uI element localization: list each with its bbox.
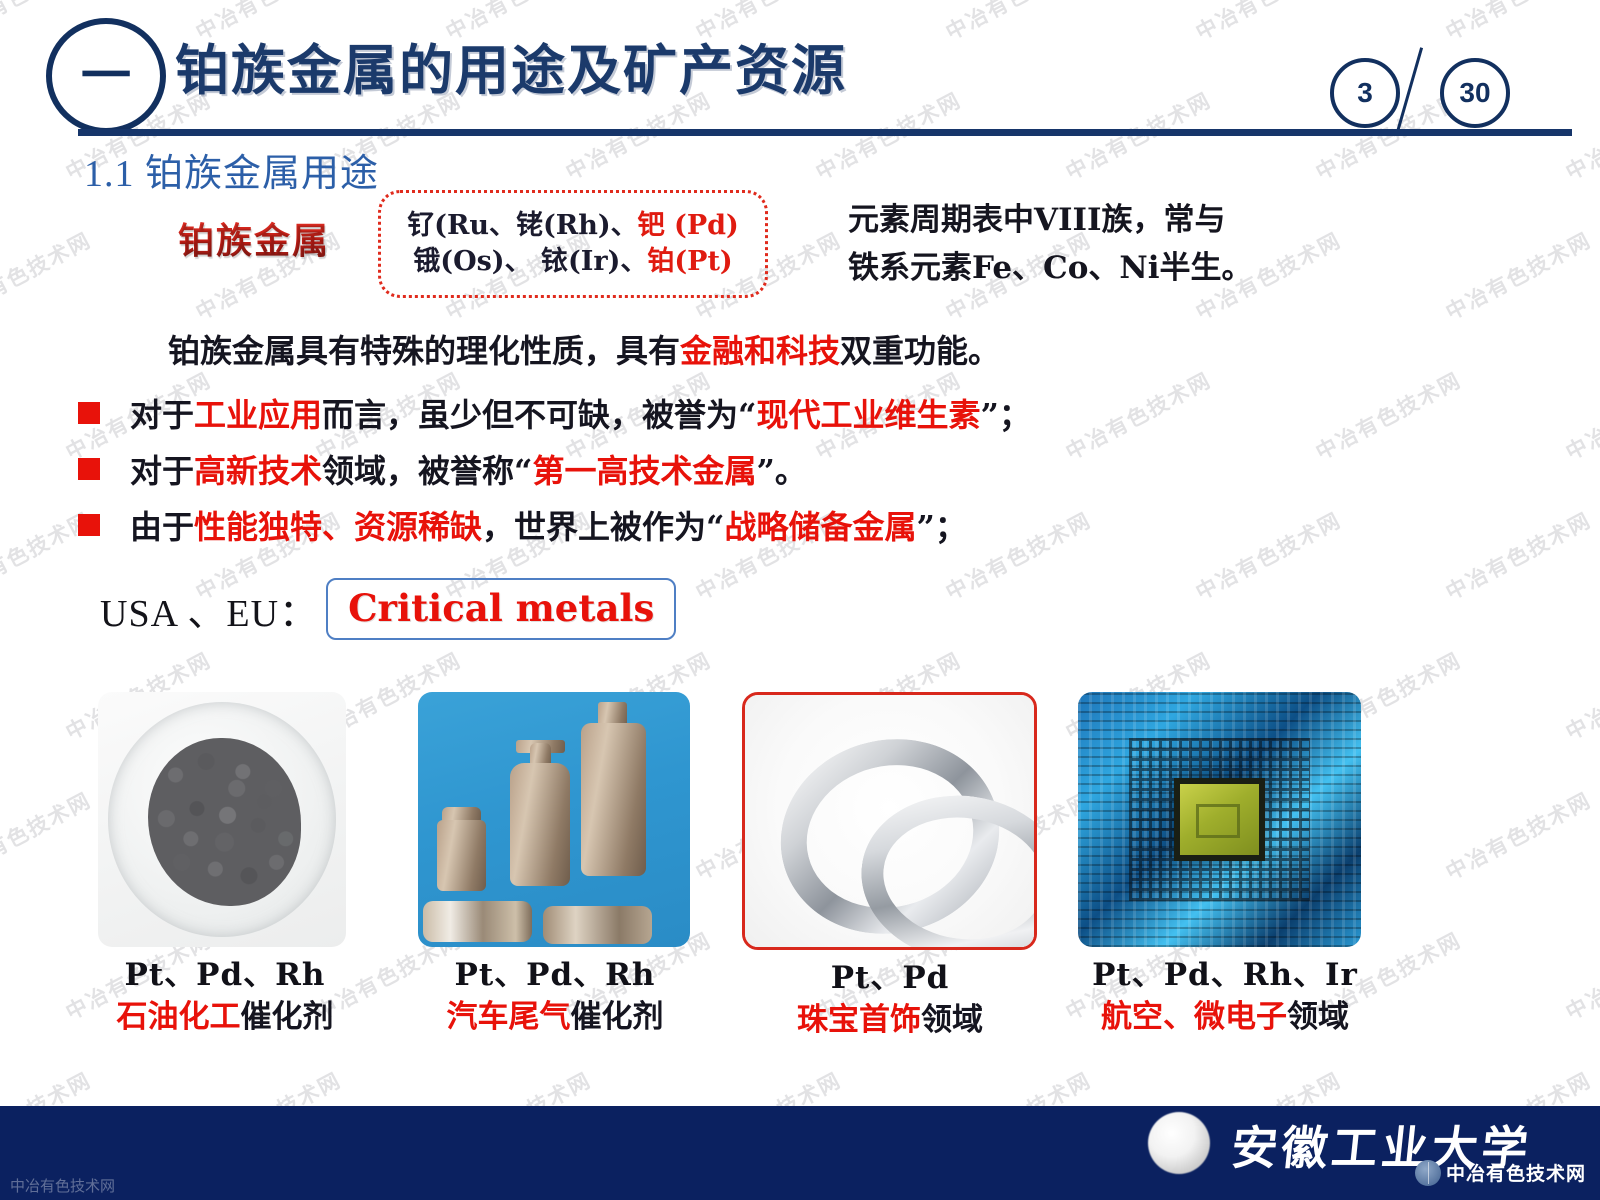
bullet-item-1: 对于工业应用而言，虽少但不可缺，被誉为“现代工业维生素”； xyxy=(78,390,1031,436)
caption-4-use-red: 航空、微电子 xyxy=(1101,999,1287,1035)
bullet-3-highlight-2: 战略储备金属 xyxy=(724,502,916,548)
bullet-2-part-a: 对于 xyxy=(130,446,194,492)
page-number-separator xyxy=(1396,47,1423,132)
bullet-item-3: 由于性能独特、资源稀缺，世界上被作为“战略储备金属”； xyxy=(78,502,967,548)
caption-3-use-black: 领域 xyxy=(921,1002,983,1038)
slide-header: 一 铂族金属的用途及矿产资源 3 30 xyxy=(0,0,1600,140)
bullet-3-highlight-1: 性能独特、资源稀缺 xyxy=(194,502,482,548)
petri-dish-graphic xyxy=(98,692,346,947)
bullet-1-highlight-2: 现代工业维生素 xyxy=(756,390,980,436)
bullet-square-icon xyxy=(78,402,100,424)
bullet-3-part-a: 由于 xyxy=(130,502,194,548)
slide-root: 一 铂族金属的用途及矿产资源 3 30 1.1 铂族金属用途 铂族金属 钌(Ru… xyxy=(0,0,1600,1200)
caption-2-symbols: Pt、Pd、Rh xyxy=(390,955,720,997)
watermark-text: 中冶有色技术网 xyxy=(1560,924,1600,1026)
converter-lying-2 xyxy=(543,906,652,944)
watermark-text: 中冶有色技术网 xyxy=(0,224,96,326)
globe-icon xyxy=(1415,1160,1441,1186)
section-heading: 1.1 铂族金属用途 xyxy=(84,142,379,197)
periodic-table-note-line-1: 元素周期表中VIII族，常与 xyxy=(848,196,1318,244)
bullet-square-icon xyxy=(78,514,100,536)
bullet-1-part-a: 对于 xyxy=(130,390,194,436)
caption-2-use-black: 催化剂 xyxy=(571,999,664,1035)
site-watermark-text: 中冶有色技术网 xyxy=(1446,1159,1586,1186)
bullet-square-icon xyxy=(78,458,100,480)
caption-1-use-black: 催化剂 xyxy=(241,999,334,1035)
caption-4: Pt、Pd、Rh、Ir 航空、微电子领域 xyxy=(1060,955,1390,1039)
corner-watermark: 中冶有色技术网 xyxy=(10,1175,115,1196)
caption-3-symbols: Pt、Pd xyxy=(730,958,1050,1000)
section-number-badge: 一 xyxy=(46,18,166,134)
bullet-1-part-c: ”； xyxy=(980,390,1030,436)
watermark-text: 中冶有色技术网 xyxy=(1190,504,1346,606)
critical-metals-box: Critical metals xyxy=(326,578,676,640)
converter-lying-1 xyxy=(423,901,532,942)
bullet-2-highlight-2: 第一高技术金属 xyxy=(532,446,756,492)
caption-3-use-red: 珠宝首饰 xyxy=(797,1002,921,1038)
bullet-2-part-c: ”。 xyxy=(756,446,806,492)
university-logo-icon xyxy=(1148,1112,1210,1174)
bullet-2-highlight-1: 高新技术 xyxy=(194,446,322,492)
critical-metals-label: USA 、EU： xyxy=(100,582,318,637)
watermark-text: 中冶有色技术网 xyxy=(1440,784,1596,886)
circuit-board-chip-photo xyxy=(1078,692,1361,947)
bullet-3-part-b: ，世界上被作为“ xyxy=(482,502,724,548)
bullet-1-part-b: 而言，虽少但不可缺，被誉为“ xyxy=(322,390,756,436)
pgm-elements-line1-dark: 钌(Ru、铑(Rh)、 xyxy=(407,210,637,241)
caption-1: Pt、Pd、Rh 石油化工催化剂 xyxy=(60,955,390,1039)
page-number-current: 3 xyxy=(1330,58,1400,128)
watermark-text: 中冶有色技术网 xyxy=(1060,364,1216,466)
catalyst-pellets-photo xyxy=(98,692,346,947)
page-title: 铂族金属的用途及矿产资源 xyxy=(175,26,847,105)
chip-die-shape xyxy=(1180,784,1259,855)
bullet-3-part-c: ”； xyxy=(916,502,966,548)
caption-1-use: 石油化工催化剂 xyxy=(60,997,390,1039)
caption-3-use: 珠宝首饰领域 xyxy=(730,1000,1050,1042)
pgm-elements-box: 钌(Ru、铑(Rh)、钯 (Pd) 锇(Os)、 铱(Ir)、铂(Pt) xyxy=(378,190,768,298)
critical-metals-value: Critical metals xyxy=(348,586,654,630)
pgm-label: 铂族金属 xyxy=(178,212,330,264)
critical-metals-row: USA 、EU： Critical metals xyxy=(100,578,676,640)
page-number-total: 30 xyxy=(1440,58,1510,128)
watermark-text: 中冶有色技术网 xyxy=(1310,364,1466,466)
catalytic-converters-photo xyxy=(418,692,690,947)
watermark-text: 中冶有色技术网 xyxy=(1560,644,1600,746)
header-divider xyxy=(78,129,1572,136)
platinum-rings-photo xyxy=(742,692,1037,950)
caption-2-use-red: 汽车尾气 xyxy=(447,999,571,1035)
pgm-elements-line-1: 钌(Ru、铑(Rh)、钯 (Pd) xyxy=(407,208,739,244)
watermark-text: 中冶有色技术网 xyxy=(1560,364,1600,466)
pgm-elements-line1-red: 钯 (Pd) xyxy=(638,210,739,241)
bullet-item-2: 对于高新技术领域，被誉称“第一高技术金属”。 xyxy=(78,446,807,492)
watermark-text: 中冶有色技术网 xyxy=(1440,224,1596,326)
caption-4-use-black: 领域 xyxy=(1287,999,1349,1035)
converter-small-body xyxy=(437,820,486,891)
bullet-2-part-b: 领域，被誉称“ xyxy=(322,446,532,492)
caption-1-use-red: 石油化工 xyxy=(117,999,241,1035)
caption-2: Pt、Pd、Rh 汽车尾气催化剂 xyxy=(390,955,720,1039)
intro-paragraph-part-b: 双重功能。 xyxy=(840,332,1000,370)
rings-graphic xyxy=(745,695,1034,947)
pgm-elements-line2-dark: 锇(Os)、 铱(Ir)、 xyxy=(413,246,647,277)
converters-graphic xyxy=(418,692,690,947)
caption-4-symbols: Pt、Pd、Rh、Ir xyxy=(1060,955,1390,997)
circuit-board-graphic xyxy=(1078,692,1361,947)
periodic-table-note-line-2: 铁系元素Fe、Co、Ni半生。 xyxy=(848,244,1318,292)
caption-2-use: 汽车尾气催化剂 xyxy=(390,997,720,1039)
periodic-table-note: 元素周期表中VIII族，常与 铁系元素Fe、Co、Ni半生。 xyxy=(848,196,1318,292)
caption-3: Pt、Pd 珠宝首饰领域 xyxy=(730,958,1050,1042)
site-watermark: 中冶有色技术网 xyxy=(1415,1159,1586,1186)
converter-large-body xyxy=(581,723,646,876)
watermark-text: 中冶有色技术网 xyxy=(1440,504,1596,606)
intro-paragraph-part-a: 铂族金属具有特殊的理化性质，具有 xyxy=(168,332,680,370)
watermark-text: 中冶有色技术网 xyxy=(0,784,96,886)
converter-mid-body xyxy=(510,763,570,885)
caption-4-use: 航空、微电子领域 xyxy=(1060,997,1390,1039)
pgm-elements-line-2: 锇(Os)、 铱(Ir)、铂(Pt) xyxy=(413,244,732,280)
intro-paragraph: 铂族金属具有特殊的理化性质，具有金融和科技双重功能。 xyxy=(168,326,1000,372)
intro-paragraph-highlight: 金融和科技 xyxy=(680,332,840,370)
pgm-elements-line2-red: 铂(Pt) xyxy=(647,246,732,277)
bullet-1-highlight-1: 工业应用 xyxy=(194,390,322,436)
caption-1-symbols: Pt、Pd、Rh xyxy=(60,955,390,997)
